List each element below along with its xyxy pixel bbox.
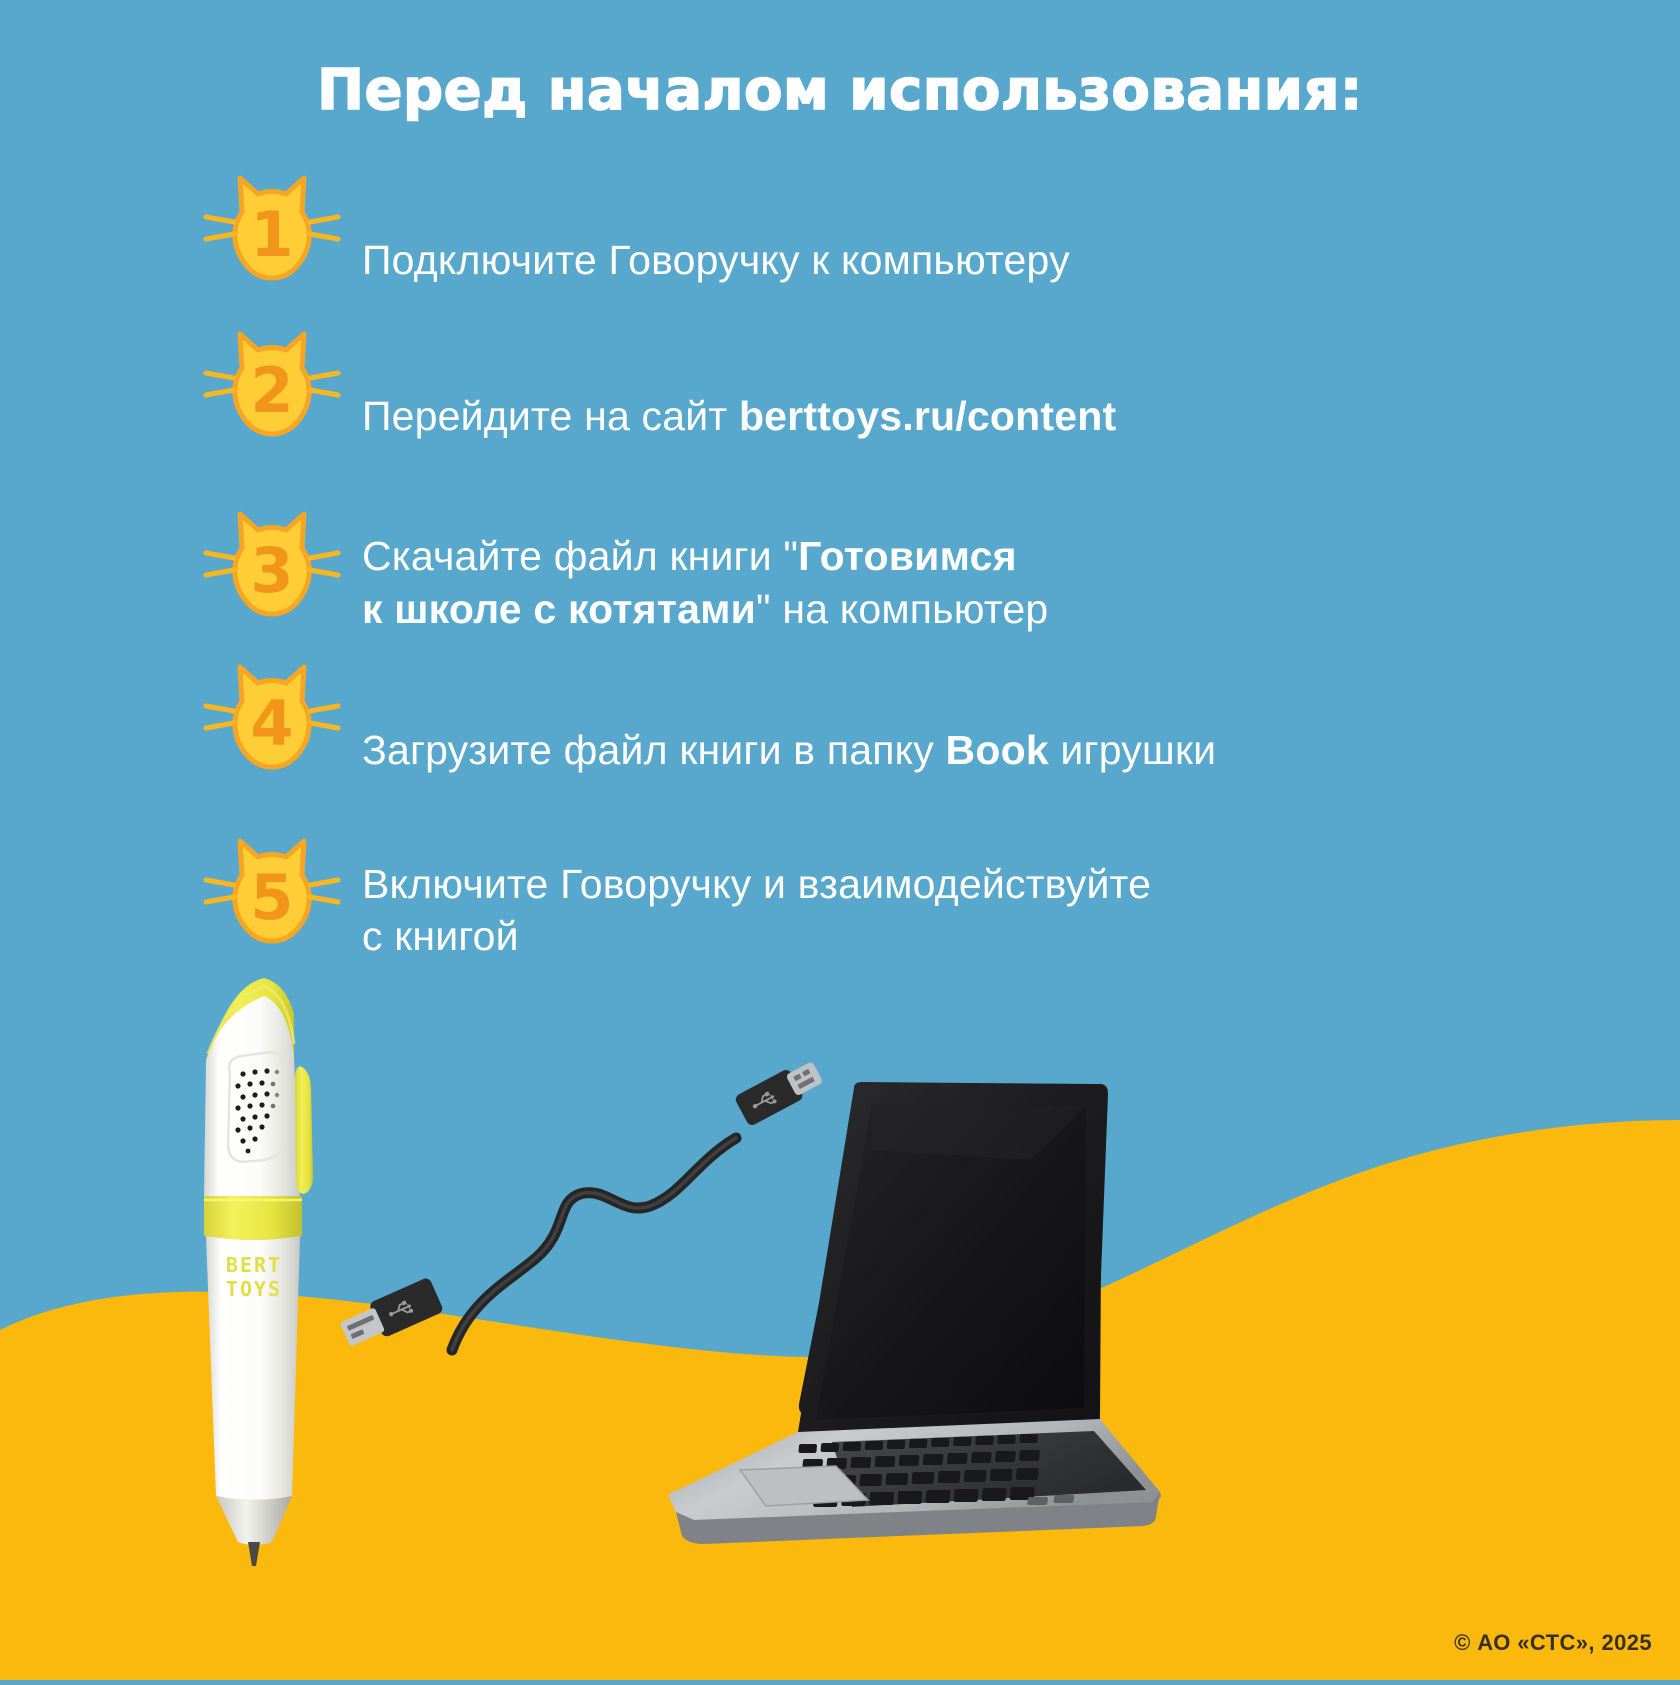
cat-head-icon: 5 (196, 823, 348, 951)
pen-tip-body (216, 1496, 292, 1545)
pen-nib (248, 1542, 260, 1566)
pen-brand-line-2: TOYS (226, 1277, 282, 1301)
step-label-2: Перейдите на сайт berttoys.ru/content (348, 316, 1116, 443)
step-number: 5 (250, 861, 293, 934)
step-text-part: Загрузите файл книги в папку (362, 727, 946, 773)
step-text-part: " на компьютер (756, 586, 1048, 632)
laptop-base (669, 1419, 1161, 1544)
step-number: 1 (250, 198, 293, 271)
step-text-part: Включите Говоручку и взаимодействуйте с … (362, 861, 1151, 959)
step-label-3: Скачайте файл книги "Готовимся к школе с… (348, 472, 1048, 635)
page-title: Перед началом использования: (0, 58, 1680, 123)
cat-head-icon: 3 (196, 496, 348, 624)
step-item-3: 3 Скачайте файл книги "Готовимся к школе… (196, 472, 1496, 635)
step-number: 3 (250, 534, 293, 607)
step-item-1: 1 Подключите Говоручку к компьютеру (196, 160, 1496, 288)
copyright-text: © АО «СТС», 2025 (1454, 1630, 1652, 1656)
cat-head-icon: 2 (196, 316, 348, 444)
laptop-screen-assembly (798, 1082, 1102, 1440)
usb-a-connector (337, 1277, 444, 1352)
cat-head-icon: 1 (196, 160, 348, 288)
step-label-5: Включите Говоручку и взаимодействуйте с … (348, 799, 1151, 962)
steps-list: 1 Подключите Говоручку к компьютеру 2 (196, 160, 1496, 985)
step-number: 2 (250, 354, 293, 427)
step-text-part: Перейдите на сайт (362, 393, 739, 439)
pen-band (204, 1196, 302, 1240)
pen-upper-body (204, 996, 300, 1198)
step-text-part-bold: Book (946, 727, 1049, 773)
step-text-part: игрушки (1049, 727, 1216, 773)
pen-brand-line-1: BERT (226, 1253, 282, 1277)
step-number: 4 (250, 687, 293, 760)
step-text-part: Подключите Говоручку к компьютеру (362, 237, 1070, 283)
step-label-1: Подключите Говоручку к компьютеру (348, 160, 1070, 287)
pen-clip (295, 1066, 313, 1194)
step-item-5: 5 Включите Говоручку и взаимодействуйте … (196, 799, 1496, 962)
step-item-4: 4 Загрузите файл книги в папку Book игру… (196, 649, 1496, 777)
step-item-2: 2 Перейдите на сайт berttoys.ru/content (196, 316, 1496, 444)
step-text-part: Скачайте файл книги " (362, 533, 798, 579)
laptop-computer (600, 1000, 1680, 1560)
step-label-4: Загрузите файл книги в папку Book игрушк… (348, 649, 1216, 776)
step-text-part-bold: berttoys.ru/content (739, 393, 1116, 439)
cat-head-icon: 4 (196, 649, 348, 777)
